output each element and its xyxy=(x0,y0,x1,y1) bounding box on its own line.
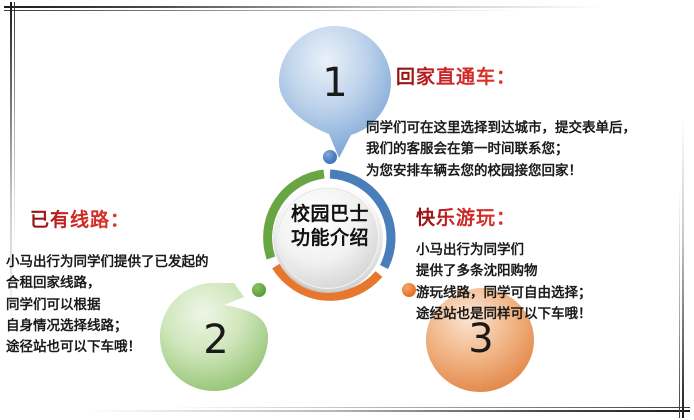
section-2-line-1: 小马出行为同学们提供了已发起的 xyxy=(6,252,209,273)
frame-line-top xyxy=(4,6,604,8)
section-1-line-1: 同学们可在这里选择到达城市，提交表单后， xyxy=(366,118,636,139)
hub-title-line1: 校园巴士 xyxy=(276,202,384,226)
balloon-1-number: 1 xyxy=(277,60,393,106)
section-1-line-3: 为您安排车辆去您的校园接您回家！ xyxy=(366,161,636,182)
section-2-line-5: 途径站也可以下车哦！ xyxy=(6,337,209,358)
section-3-line-3: 游玩线路，同学可自由选择； xyxy=(416,283,592,304)
frame-line-right-thin xyxy=(679,188,680,418)
infographic-canvas: 校园巴士 功能介绍 1 xyxy=(0,0,694,420)
section-3-body: 小马出行为同学们 提供了多条沈阳购物 游玩线路，同学可自由选择； 途经站也是同样… xyxy=(416,240,592,325)
connector-dot-orange xyxy=(402,283,416,297)
connector-dot-green xyxy=(252,283,266,297)
hub-title: 校园巴士 功能介绍 xyxy=(276,202,384,251)
section-3-line-1: 小马出行为同学们 xyxy=(416,240,592,261)
frame-line-bottom-thin xyxy=(170,407,690,408)
frame-line-top-thin xyxy=(4,10,524,11)
section-2-line-3: 同学们可以根据 xyxy=(6,295,209,316)
section-1-line-2: 我们的客服会在第一时间联系您； xyxy=(366,139,636,160)
section-3-heading: 快乐游玩： xyxy=(416,203,516,230)
section-3-line-4: 途经站也是同样可以下车哦！ xyxy=(416,304,592,325)
section-1-body: 同学们可在这里选择到达城市，提交表单后， 我们的客服会在第一时间联系您； 为您安… xyxy=(366,118,636,182)
frame-line-left-thin xyxy=(14,2,15,252)
section-2-line-4: 自身情况选择线路； xyxy=(6,316,209,337)
section-1-heading: 回家直通车： xyxy=(396,62,516,89)
section-2-body: 小马出行为同学们提供了已发起的 合租回家线路， 同学们可以根据 自身情况选择线路… xyxy=(6,252,209,359)
center-hub: 校园巴士 功能介绍 xyxy=(250,162,410,314)
section-2-heading: 已有线路： xyxy=(30,205,130,232)
section-2-line-2: 合租回家线路， xyxy=(6,273,209,294)
section-3-line-2: 提供了多条沈阳购物 xyxy=(416,261,592,282)
connector-dot-blue xyxy=(323,150,337,164)
frame-line-right xyxy=(682,118,684,418)
frame-line-bottom xyxy=(90,410,690,412)
hub-title-line2: 功能介绍 xyxy=(276,226,384,250)
